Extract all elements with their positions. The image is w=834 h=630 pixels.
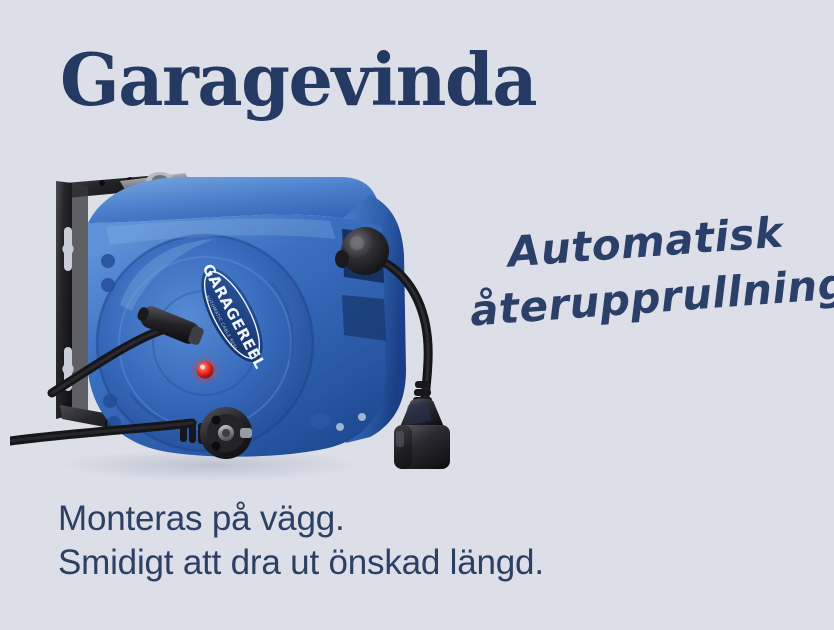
indicator-led: [191, 356, 219, 384]
promo-banner: Garagevinda: [0, 0, 834, 630]
page-title: Garagevinda: [60, 44, 536, 116]
bottom-copy-line1: Monteras på vägg.: [58, 497, 544, 541]
bottom-copy: Monteras på vägg. Smidigt att dra ut öns…: [58, 497, 544, 585]
script-callout: Automatisk återupprullning: [462, 202, 819, 339]
bottom-copy-line2: Smidigt att dra ut önskad längd.: [58, 541, 544, 585]
product-image: GARAGEREEL AUTOMATIC CABLE REEL: [10, 165, 480, 485]
